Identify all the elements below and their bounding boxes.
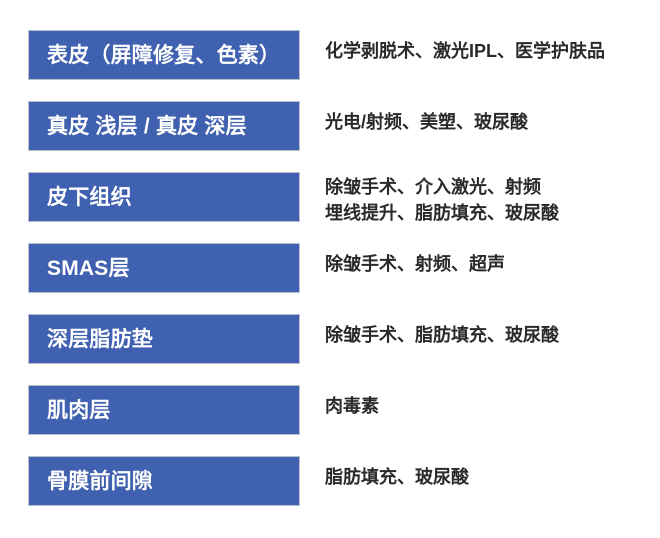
treatment-list: 化学剥脱术、激光IPL、医学护肤品 [325,38,655,64]
treatment-line: 除皱手术、射频、超声 [325,251,655,277]
layer-name-label: 深层脂肪垫 [47,329,153,350]
table-row: 表皮（屏障修复、色素） 化学剥脱术、激光IPL、医学护肤品 [0,30,660,101]
treatment-line: 光电/射频、美塑、玻尿酸 [325,109,655,135]
table-row: 真皮 浅层 / 真皮 深层 光电/射频、美塑、玻尿酸 [0,101,660,172]
skin-layer-treatment-table: 表皮（屏障修复、色素） 化学剥脱术、激光IPL、医学护肤品 真皮 浅层 / 真皮… [0,0,660,538]
layer-badge: 深层脂肪垫 [28,314,300,364]
layer-name-label: 表皮（屏障修复、色素） [47,45,280,66]
layer-badge: SMAS层 [28,243,300,293]
treatment-list: 脂肪填充、玻尿酸 [325,464,655,490]
treatment-line: 化学剥脱术、激光IPL、医学护肤品 [325,38,655,64]
treatment-line: 脂肪填充、玻尿酸 [325,464,655,490]
treatment-list: 光电/射频、美塑、玻尿酸 [325,109,655,135]
treatment-line: 肉毒素 [325,393,655,419]
treatment-list: 肉毒素 [325,393,655,419]
layer-badge: 皮下组织 [28,172,300,222]
table-row: 深层脂肪垫 除皱手术、脂肪填充、玻尿酸 [0,314,660,385]
layer-name-label: 皮下组织 [47,187,132,208]
table-row: 肌肉层 肉毒素 [0,385,660,456]
table-row: 皮下组织 除皱手术、介入激光、射频 埋线提升、脂肪填充、玻尿酸 [0,172,660,243]
layer-badge: 表皮（屏障修复、色素） [28,30,300,80]
layer-name-label: SMAS层 [47,258,130,279]
layer-badge: 肌肉层 [28,385,300,435]
treatment-list: 除皱手术、介入激光、射频 埋线提升、脂肪填充、玻尿酸 [325,174,655,226]
treatment-list: 除皱手术、射频、超声 [325,251,655,277]
treatment-line: 除皱手术、脂肪填充、玻尿酸 [325,322,655,348]
treatment-list: 除皱手术、脂肪填充、玻尿酸 [325,322,655,348]
table-row: 骨膜前间隙 脂肪填充、玻尿酸 [0,456,660,527]
table-row: SMAS层 除皱手术、射频、超声 [0,243,660,314]
treatment-line: 除皱手术、介入激光、射频 [325,174,655,200]
layer-name-label: 真皮 浅层 / 真皮 深层 [47,116,247,137]
layer-badge: 真皮 浅层 / 真皮 深层 [28,101,300,151]
layer-name-label: 骨膜前间隙 [47,471,153,492]
treatment-line: 埋线提升、脂肪填充、玻尿酸 [325,200,655,226]
layer-badge: 骨膜前间隙 [28,456,300,506]
layer-name-label: 肌肉层 [47,400,111,421]
